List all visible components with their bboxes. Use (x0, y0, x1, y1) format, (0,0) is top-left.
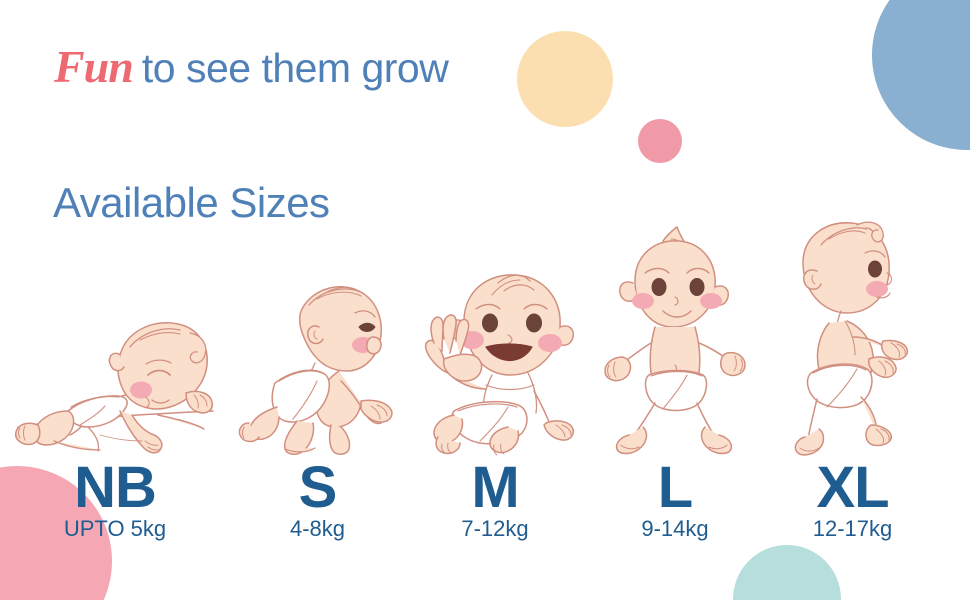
size-code-l: L (658, 461, 692, 514)
size-code-xl: XL (816, 461, 888, 514)
crawling-baby-illustration (235, 275, 400, 457)
size-item-m[interactable]: M 7-12kg (405, 180, 585, 540)
size-code-s: S (299, 461, 337, 514)
headline-rest-text: to see them grow (142, 45, 449, 91)
size-weight-xl: 12-17kg (813, 517, 893, 540)
sitting-waving-baby-illustration (410, 265, 580, 457)
standing-baby-illustration (593, 217, 758, 457)
size-code-nb: NB (74, 461, 156, 514)
size-weight-s: 4-8kg (290, 517, 345, 540)
small-pink-circle (638, 119, 682, 163)
size-code-m: M (471, 461, 518, 514)
size-chart-row: NB UPTO 5kg (0, 180, 970, 540)
sleeping-baby-illustration (8, 307, 223, 457)
size-item-xl[interactable]: XL 12-17kg (765, 180, 940, 540)
peach-circle (517, 31, 613, 127)
size-item-nb[interactable]: NB UPTO 5kg (0, 180, 230, 540)
size-weight-m: 7-12kg (461, 517, 528, 540)
bottom-teal-circle (733, 545, 841, 600)
size-weight-l: 9-14kg (641, 517, 708, 540)
walking-baby-illustration (773, 207, 933, 457)
top-right-blue-circle (872, 0, 970, 150)
poster-canvas: Funto see them grow Available Sizes (0, 0, 970, 600)
size-weight-nb: UPTO 5kg (64, 517, 166, 540)
headline: Funto see them grow (54, 44, 448, 90)
headline-accent-word: Fun (54, 41, 133, 92)
size-item-s[interactable]: S 4-8kg (230, 180, 405, 540)
size-item-l[interactable]: L 9-14kg (585, 180, 765, 540)
